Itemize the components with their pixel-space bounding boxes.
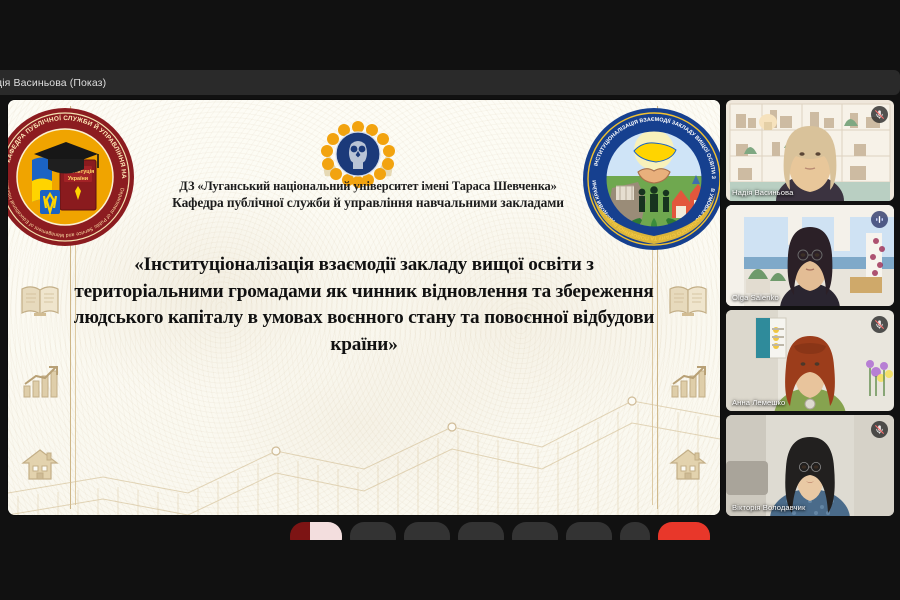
department-name-line: Кафедра публічної служби й управління на… (148, 194, 588, 211)
house-icon (20, 446, 60, 482)
participant-name-label: Olga Salenko (732, 293, 779, 302)
institution-name-line: ДЗ «Луганський національний університет … (148, 178, 588, 194)
shared-screen-slide[interactable]: КАФЕДРА ПУБЛІЧНОЇ СЛУЖБИ Й УПРАВЛІННЯ НА… (8, 100, 720, 515)
meeting-controls-toolbar[interactable] (290, 522, 710, 540)
participant-video (726, 205, 894, 306)
presenter-name-label: дія Васиньова (Показ) (0, 77, 106, 89)
participant-tile[interactable]: Olga Salenko (726, 205, 894, 306)
reactions-button[interactable] (566, 522, 612, 540)
participant-name-label: Надія Васиньова (732, 188, 793, 197)
participant-tile[interactable]: Анна Лемешко (726, 310, 894, 411)
participant-filmstrip: Надія Васиньова (726, 100, 894, 520)
chat-button[interactable] (512, 522, 558, 540)
leave-call-button[interactable] (658, 522, 710, 540)
participant-name-label: Вікторія Володавчик (732, 503, 805, 512)
open-book-icon (20, 282, 60, 318)
microphone-muted-icon[interactable] (871, 421, 888, 438)
microphone-muted-icon[interactable] (871, 316, 888, 333)
department-seal-emblem: КАФЕДРА ПУБЛІЧНОЇ СЛУЖБИ Й УПРАВЛІННЯ НА… (8, 106, 136, 248)
decor-icon-column-left (17, 282, 63, 482)
participant-video (726, 415, 894, 516)
presenter-label-bar: дія Васиньова (Показ) (0, 70, 900, 95)
open-book-icon (668, 282, 708, 318)
house-icon (668, 446, 708, 482)
camera-toggle-button[interactable] (350, 522, 396, 540)
participant-video (726, 100, 894, 201)
share-screen-button[interactable] (404, 522, 450, 540)
microphone-toggle-button[interactable] (290, 522, 342, 540)
participants-button[interactable] (458, 522, 504, 540)
decor-icon-column-right (665, 282, 711, 482)
video-conference-window: дія Васиньова (Показ) (0, 0, 900, 600)
participant-name-label: Анна Лемешко (732, 398, 785, 407)
slide-institution-header: ДЗ «Луганський національний університет … (148, 178, 588, 211)
project-theme-emblem: ІНСТИТУЦІОНАЛІЗАЦІЯ ВЗАЄМОДІЇ ЗАКЛАДУ ВИ… (580, 106, 720, 252)
growth-chart-icon (20, 364, 60, 400)
microphone-muted-icon[interactable] (871, 106, 888, 123)
svg-text:України: України (68, 176, 88, 182)
participant-video (726, 310, 894, 411)
growth-chart-icon (668, 364, 708, 400)
participant-tile[interactable]: Надія Васиньова (726, 100, 894, 201)
audio-level-icon[interactable] (871, 211, 888, 228)
slide-main-title: «Інституціоналізація взаємодії закладу в… (66, 252, 662, 358)
more-options-button[interactable] (620, 522, 650, 540)
participant-tile[interactable]: Вікторія Володавчик (726, 415, 894, 516)
